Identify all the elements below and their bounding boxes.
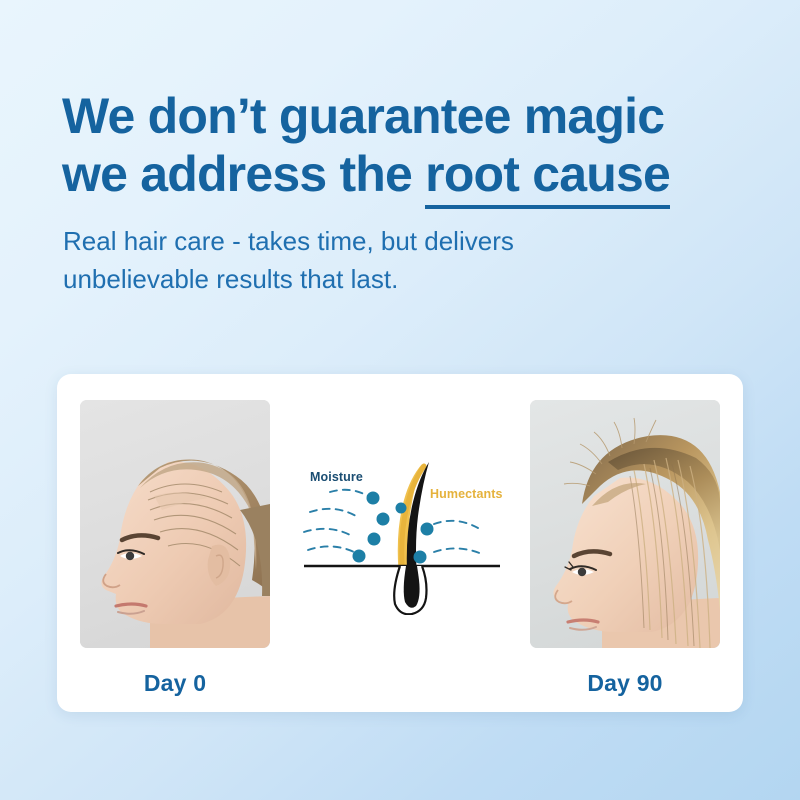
headline-line-2-prefix: we address the [62,146,425,202]
headline-emphasis: root cause [425,146,670,209]
page-subtitle: Real hair care - takes time, but deliver… [63,222,703,299]
portrait-before-illustration [80,400,270,648]
moisture-label: Moisture [310,470,363,484]
day-label-after: Day 90 [530,670,720,697]
follicle-diagram: Moisture Humectants [282,440,522,615]
headline-line-2: we address the root cause [62,146,762,202]
panel-before: Day 0 [80,400,270,697]
moisture-flow-lines-right [434,521,482,554]
page-title: We don’t guarantee magic we address the … [62,88,762,202]
photo-after [530,400,720,648]
photo-before [80,400,270,648]
poster-canvas: We don’t guarantee magic we address the … [0,0,800,800]
humectants-label: Humectants [430,487,503,501]
follicle-diagram-svg [282,440,522,615]
portrait-after-illustration [530,400,720,648]
panel-after: Day 90 [530,400,720,697]
moisture-dots [353,492,434,564]
subtitle-line-1: Real hair care - takes time, but deliver… [63,222,703,260]
headline-line-1: We don’t guarantee magic [62,88,762,144]
follicle-root [404,566,420,608]
day-label-before: Day 0 [80,670,270,697]
moisture-flow-lines-left [304,490,368,552]
subtitle-line-2: unbelievable results that last. [63,260,703,298]
